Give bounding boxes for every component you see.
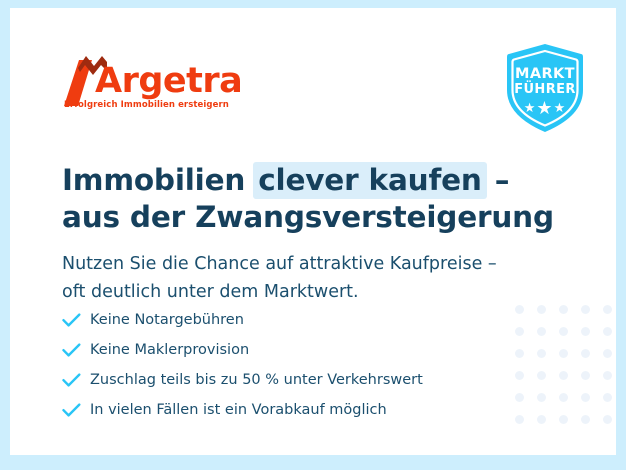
check-icon: [62, 403, 90, 418]
star-icon: ★: [554, 100, 567, 115]
decorative-dot: [515, 393, 524, 402]
checklist-item: Zuschlag teils bis zu 50 % unter Verkehr…: [62, 365, 512, 395]
headline-highlight: clever kaufen: [253, 162, 486, 199]
checklist-item: Keine Notargebühren: [62, 305, 512, 335]
decorative-dot: [515, 349, 524, 358]
benefits-checklist: Keine NotargebührenKeine Maklerprovision…: [62, 305, 512, 425]
decorative-dot: [603, 305, 612, 314]
decorative-dot: [581, 327, 590, 336]
decorative-dot: [559, 305, 568, 314]
decorative-dot: [515, 305, 524, 314]
checklist-item-label: Keine Maklerprovision: [90, 342, 249, 358]
decorative-dot: [559, 371, 568, 380]
decorative-dot: [515, 327, 524, 336]
checklist-item: Keine Maklerprovision: [62, 335, 512, 365]
decorative-dot: [537, 327, 546, 336]
decorative-dot: [603, 415, 612, 424]
star-icon: ★: [524, 100, 537, 115]
logo-tagline: Erfolgreich Immobilien ersteigern: [64, 100, 229, 110]
decorative-dot: [603, 327, 612, 336]
decorative-dot: [515, 415, 524, 424]
decorative-dot: [559, 415, 568, 424]
decorative-dot: [581, 415, 590, 424]
decorative-dot: [603, 371, 612, 380]
headline-line-2: aus der Zwangsversteigerung: [62, 200, 554, 234]
decorative-dot: [515, 371, 524, 380]
page-frame: Argetra Erfolgreich Immobilien ersteiger…: [0, 0, 626, 470]
headline: Immobilien clever kaufen – aus der Zwang…: [62, 162, 562, 236]
decorative-dot: [537, 349, 546, 358]
promo-card: Argetra Erfolgreich Immobilien ersteiger…: [10, 8, 616, 455]
badge-line-1: MARKT: [497, 66, 593, 82]
checklist-item: In vielen Fällen ist ein Vorabkauf mögli…: [62, 395, 512, 425]
decorative-dot: [581, 393, 590, 402]
decorative-dot: [603, 349, 612, 358]
checklist-item-label: Zuschlag teils bis zu 50 % unter Verkehr…: [90, 372, 423, 388]
decorative-dot: [559, 393, 568, 402]
decorative-dot: [537, 305, 546, 314]
logo-wordmark: Argetra: [95, 64, 242, 99]
checklist-item-label: Keine Notargebühren: [90, 312, 244, 328]
check-icon: [62, 373, 90, 388]
dot-grid-decoration: [515, 305, 616, 440]
decorative-dot: [603, 393, 612, 402]
headline-line-1: Immobilien clever kaufen –: [62, 163, 509, 197]
headline-dash: –: [485, 163, 510, 197]
market-leader-badge: MARKT FÜHRER ★★★: [497, 40, 593, 136]
check-icon: [62, 313, 90, 328]
subheadline-line-1: Nutzen Sie die Chance auf attraktive Kau…: [62, 254, 497, 274]
decorative-dot: [537, 393, 546, 402]
subheadline-line-2: oft deutlich unter dem Marktwert.: [62, 282, 359, 302]
decorative-dot: [537, 415, 546, 424]
decorative-dot: [581, 349, 590, 358]
badge-stars: ★★★: [497, 99, 593, 117]
argetra-logo[interactable]: Argetra Erfolgreich Immobilien ersteiger…: [62, 52, 222, 122]
headline-text-plain: Immobilien: [62, 163, 255, 197]
decorative-dot: [581, 305, 590, 314]
decorative-dot: [537, 371, 546, 380]
star-icon: ★: [536, 98, 553, 118]
subheadline: Nutzen Sie die Chance auf attraktive Kau…: [62, 250, 582, 306]
decorative-dot: [559, 327, 568, 336]
decorative-dot: [581, 371, 590, 380]
badge-line-2: FÜHRER: [497, 82, 593, 97]
checklist-item-label: In vielen Fällen ist ein Vorabkauf mögli…: [90, 402, 387, 418]
check-icon: [62, 343, 90, 358]
decorative-dot: [559, 349, 568, 358]
